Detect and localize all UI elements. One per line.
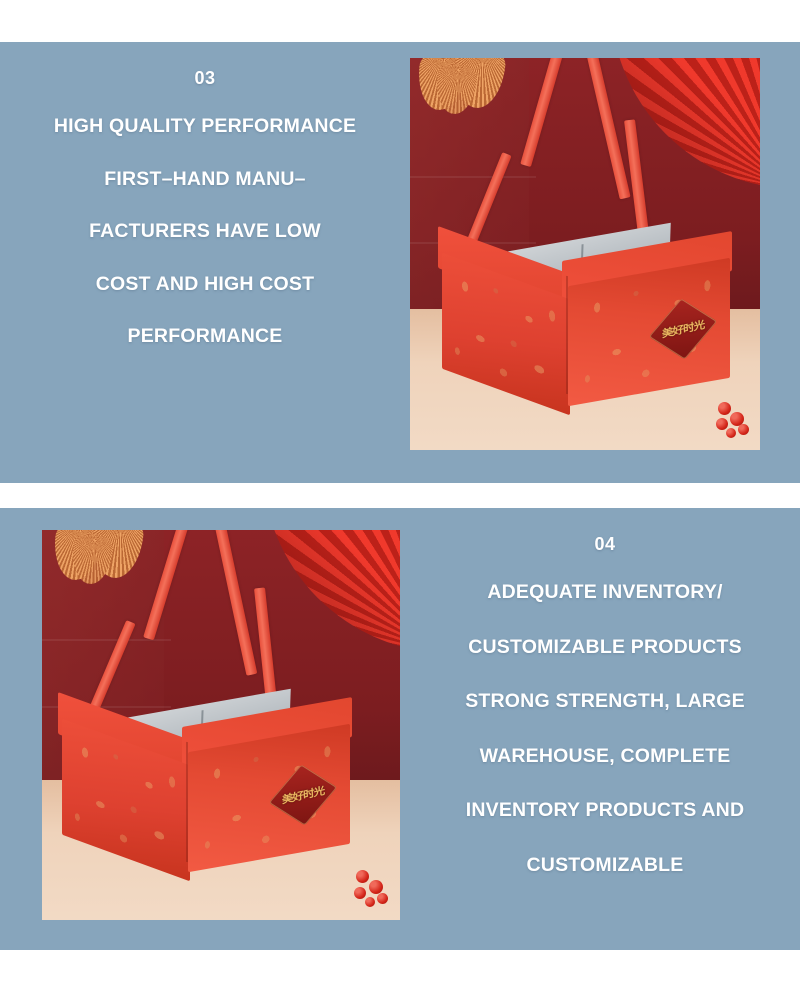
- berry: [354, 887, 366, 899]
- berry: [738, 424, 749, 435]
- feature-headline-list-04: ADEQUATE INVENTORY/ CUSTOMIZABLE PRODUCT…: [410, 583, 800, 910]
- berry: [365, 897, 375, 907]
- berry: [726, 428, 736, 438]
- decorative-berries: [336, 868, 394, 912]
- berry: [369, 880, 383, 894]
- berry: [356, 870, 369, 883]
- box-corner-edge: [566, 276, 568, 394]
- berry: [718, 402, 731, 415]
- feature-line: COST AND HIGH COST: [0, 275, 410, 295]
- feature-line: FIRST–HAND MANU–: [0, 170, 410, 190]
- feature-line: PERFORMANCE: [0, 327, 410, 347]
- gift-box: 美好时光: [438, 236, 730, 420]
- feature-line: WAREHOUSE, COMPLETE: [410, 747, 800, 767]
- box-corner-edge: [186, 742, 188, 862]
- feature-line: CUSTOMIZABLE PRODUCTS: [410, 638, 800, 658]
- step-number-03: 03: [194, 68, 215, 89]
- feature-line: CUSTOMIZABLE: [410, 856, 800, 876]
- feature-line: FACTURERS HAVE LOW: [0, 222, 410, 242]
- top-spacer: [0, 0, 800, 42]
- product-detail-page: 03 HIGH QUALITY PERFORMANCE FIRST–HAND M…: [0, 0, 800, 997]
- feature-text-column-03: 03 HIGH QUALITY PERFORMANCE FIRST–HAND M…: [0, 42, 410, 483]
- feature-line: HIGH QUALITY PERFORMANCE: [0, 117, 410, 137]
- bottom-spacer: [0, 950, 800, 997]
- decorative-berries: [696, 398, 754, 442]
- gift-box: 美好时光: [58, 702, 358, 892]
- feature-text-column-04: 04 ADEQUATE INVENTORY/ CUSTOMIZABLE PROD…: [410, 508, 800, 950]
- panel-separator: [0, 483, 800, 508]
- feature-panel-04: 美好时光 04 ADEQUATE INVENTORY/ CUSTOMIZABLE…: [0, 508, 800, 950]
- berry: [716, 418, 728, 430]
- product-photo-04: 美好时光: [42, 530, 400, 920]
- wall-line: [410, 176, 536, 178]
- feature-panel-03: 03 HIGH QUALITY PERFORMANCE FIRST–HAND M…: [0, 42, 800, 483]
- product-photo-03: 美好时光: [410, 58, 760, 450]
- feature-line: INVENTORY PRODUCTS AND: [410, 801, 800, 821]
- feature-line: ADEQUATE INVENTORY/: [410, 583, 800, 603]
- berry: [377, 893, 388, 904]
- feature-line: STRONG STRENGTH, LARGE: [410, 692, 800, 712]
- feature-headline-list-03: HIGH QUALITY PERFORMANCE FIRST–HAND MANU…: [0, 117, 410, 380]
- step-number-04: 04: [594, 534, 615, 555]
